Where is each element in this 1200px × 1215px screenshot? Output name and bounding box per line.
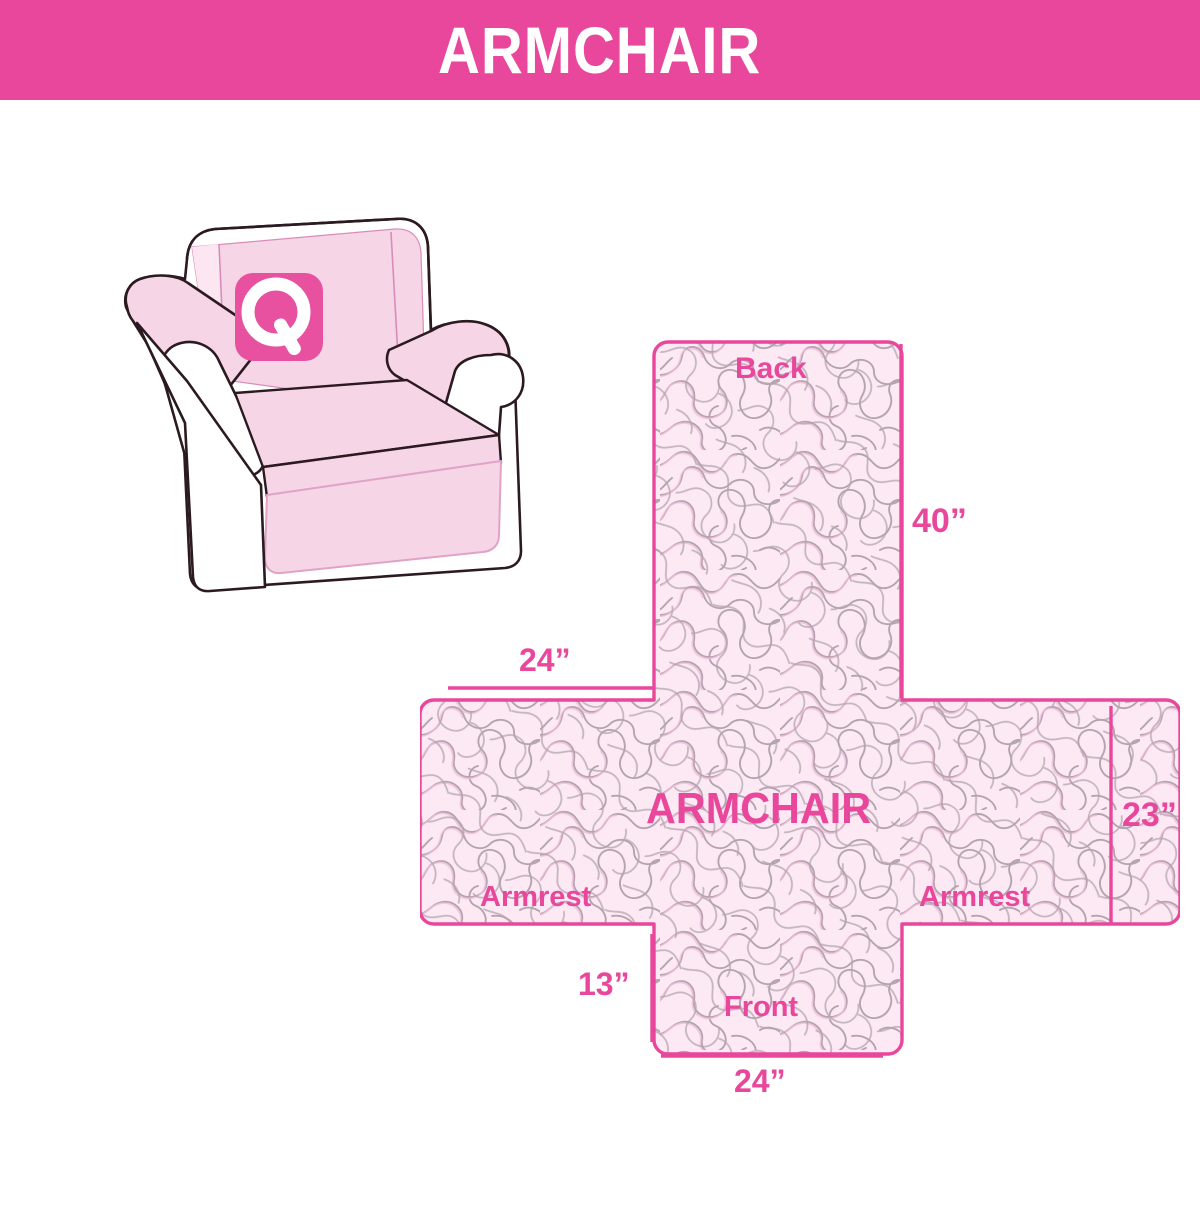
dimension-label-24-bottom: 24”: [734, 1063, 786, 1100]
cover-cross-shape: [420, 330, 1180, 1210]
dimension-label-24-top: 24”: [519, 642, 571, 679]
panel-label-front: Front: [724, 991, 798, 1024]
quilt-texture: [420, 330, 1180, 1210]
dimension-label-40: 40”: [912, 502, 967, 541]
center-label-armchair: ARMCHAIR: [646, 784, 871, 834]
pattern-diagram: Back Armrest Armrest Front ARMCHAIR 40” …: [420, 330, 1180, 1210]
panel-label-back: Back: [735, 352, 807, 386]
content-area: Back Armrest Armrest Front ARMCHAIR 40” …: [0, 100, 1200, 1200]
panel-label-armrest-right: Armrest: [919, 881, 1030, 914]
header-banner: ARMCHAIR: [0, 0, 1200, 100]
panel-label-armrest-left: Armrest: [480, 881, 591, 914]
dimension-label-23: 23”: [1122, 796, 1177, 835]
page-title: ARMCHAIR: [438, 17, 761, 83]
dimension-label-13: 13”: [578, 966, 630, 1003]
